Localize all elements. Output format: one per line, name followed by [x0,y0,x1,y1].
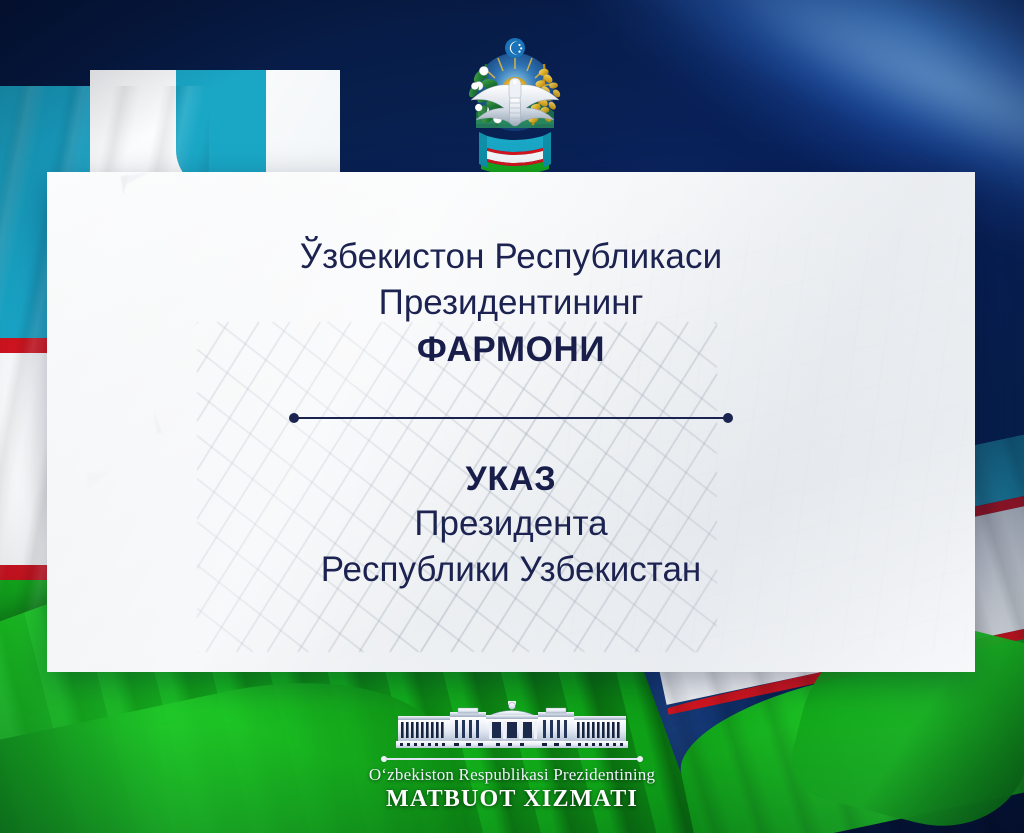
uzbek-title-farmoni: ФАРМОНИ [300,327,723,374]
press-service-logo: O‘zbekiston Respublikasi Prezidentining … [0,700,1024,813]
uzbek-title-line1: Ўзбекистон Республикаси [300,234,723,280]
decree-card: Ўзбекистон Республикаси Президентининг Ф… [47,172,975,672]
russian-title-ukaz: УКАЗ [321,458,702,502]
divider-dot-right [723,413,733,423]
presidential-palace-icon [372,700,652,752]
press-service-title: MATBUOT XIZMATI [386,786,638,813]
logo-divider-dot-right [637,756,643,762]
russian-title-line3: Республики Узбекистан [321,547,702,593]
divider-bar [295,417,727,419]
uzbek-title-line2: Президентининг [300,280,723,326]
poster-canvas: Ўзбекистон Республикаси Президентининг Ф… [0,0,1024,833]
press-service-subtitle: O‘zbekiston Respublikasi Prezidentining [369,765,655,785]
russian-title-line2: Президента [321,501,702,547]
title-divider [289,412,733,424]
logo-divider [381,755,643,763]
logo-divider-bar [385,758,639,760]
uzbekistan-coat-of-arms-icon [440,24,590,174]
uzbek-title-block: Ўзбекистон Республикаси Президентининг Ф… [300,234,723,374]
russian-title-block: УКАЗ Президента Республики Узбекистан [321,458,702,593]
